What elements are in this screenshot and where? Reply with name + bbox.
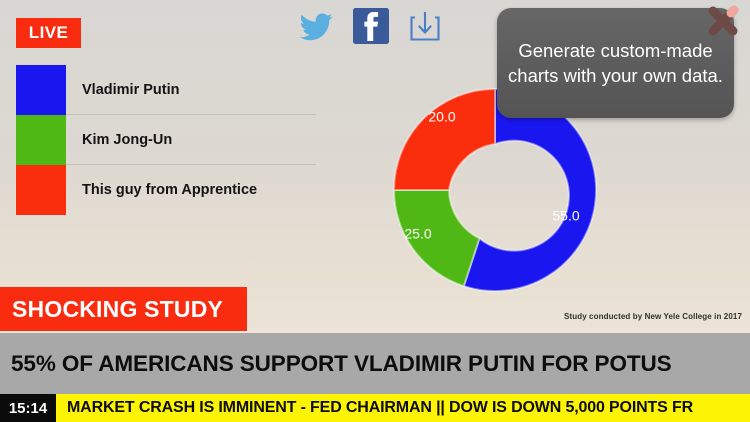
donut-slice-apprentice	[394, 89, 495, 190]
live-badge-label: LIVE	[29, 23, 68, 43]
news-ticker: 15:14 MARKET CRASH IS IMMINENT - FED CHA…	[0, 394, 750, 422]
donut-label-putin: 55.0	[552, 208, 579, 224]
twitter-icon[interactable]	[296, 6, 336, 51]
chart-attribution: Study conducted by New Yele College in 2…	[564, 312, 742, 321]
shocking-study-tag: SHOCKING STUDY	[0, 287, 247, 331]
facebook-icon[interactable]	[352, 7, 390, 50]
legend-item-kim[interactable]: Kim Jong-Un	[16, 115, 316, 165]
legend-label-apprentice: This guy from Apprentice	[82, 182, 257, 198]
ticker-clock: 15:14	[0, 394, 56, 422]
tooltip-text: Generate custom-made charts with your ow…	[497, 38, 734, 88]
shocking-study-label: SHOCKING STUDY	[12, 296, 223, 323]
donut-label-kim: 25.0	[404, 226, 431, 242]
legend-swatch-kim	[16, 115, 66, 165]
ticker-clock-label: 15:14	[9, 400, 47, 417]
donut-label-apprentice: 20.0	[428, 109, 455, 125]
live-badge: LIVE	[16, 18, 81, 48]
legend-item-apprentice[interactable]: This guy from Apprentice	[16, 165, 316, 215]
legend-item-putin[interactable]: Vladimir Putin	[16, 65, 316, 115]
legend-swatch-apprentice	[16, 165, 66, 215]
headline-text: 55% OF AMERICANS SUPPORT VLADIMIR PUTIN …	[11, 351, 672, 377]
download-icon[interactable]	[406, 6, 444, 51]
legend-label-putin: Vladimir Putin	[82, 82, 180, 98]
ticker-strip: MARKET CRASH IS IMMINENT - FED CHAIRMAN …	[56, 394, 750, 422]
social-share-bar	[296, 6, 444, 51]
headline-bar: 55% OF AMERICANS SUPPORT VLADIMIR PUTIN …	[0, 333, 750, 394]
chart-legend: Vladimir Putin Kim Jong-Un This guy from…	[16, 65, 316, 215]
ticker-text: MARKET CRASH IS IMMINENT - FED CHAIRMAN …	[67, 399, 693, 417]
broadcast-screen: LIVE Vladimir Putin Kim Jong-Un This guy…	[0, 0, 750, 422]
legend-swatch-putin	[16, 65, 66, 115]
close-icon[interactable]	[700, 0, 746, 44]
legend-label-kim: Kim Jong-Un	[82, 132, 172, 148]
tooltip-callout: Generate custom-made charts with your ow…	[497, 8, 734, 118]
